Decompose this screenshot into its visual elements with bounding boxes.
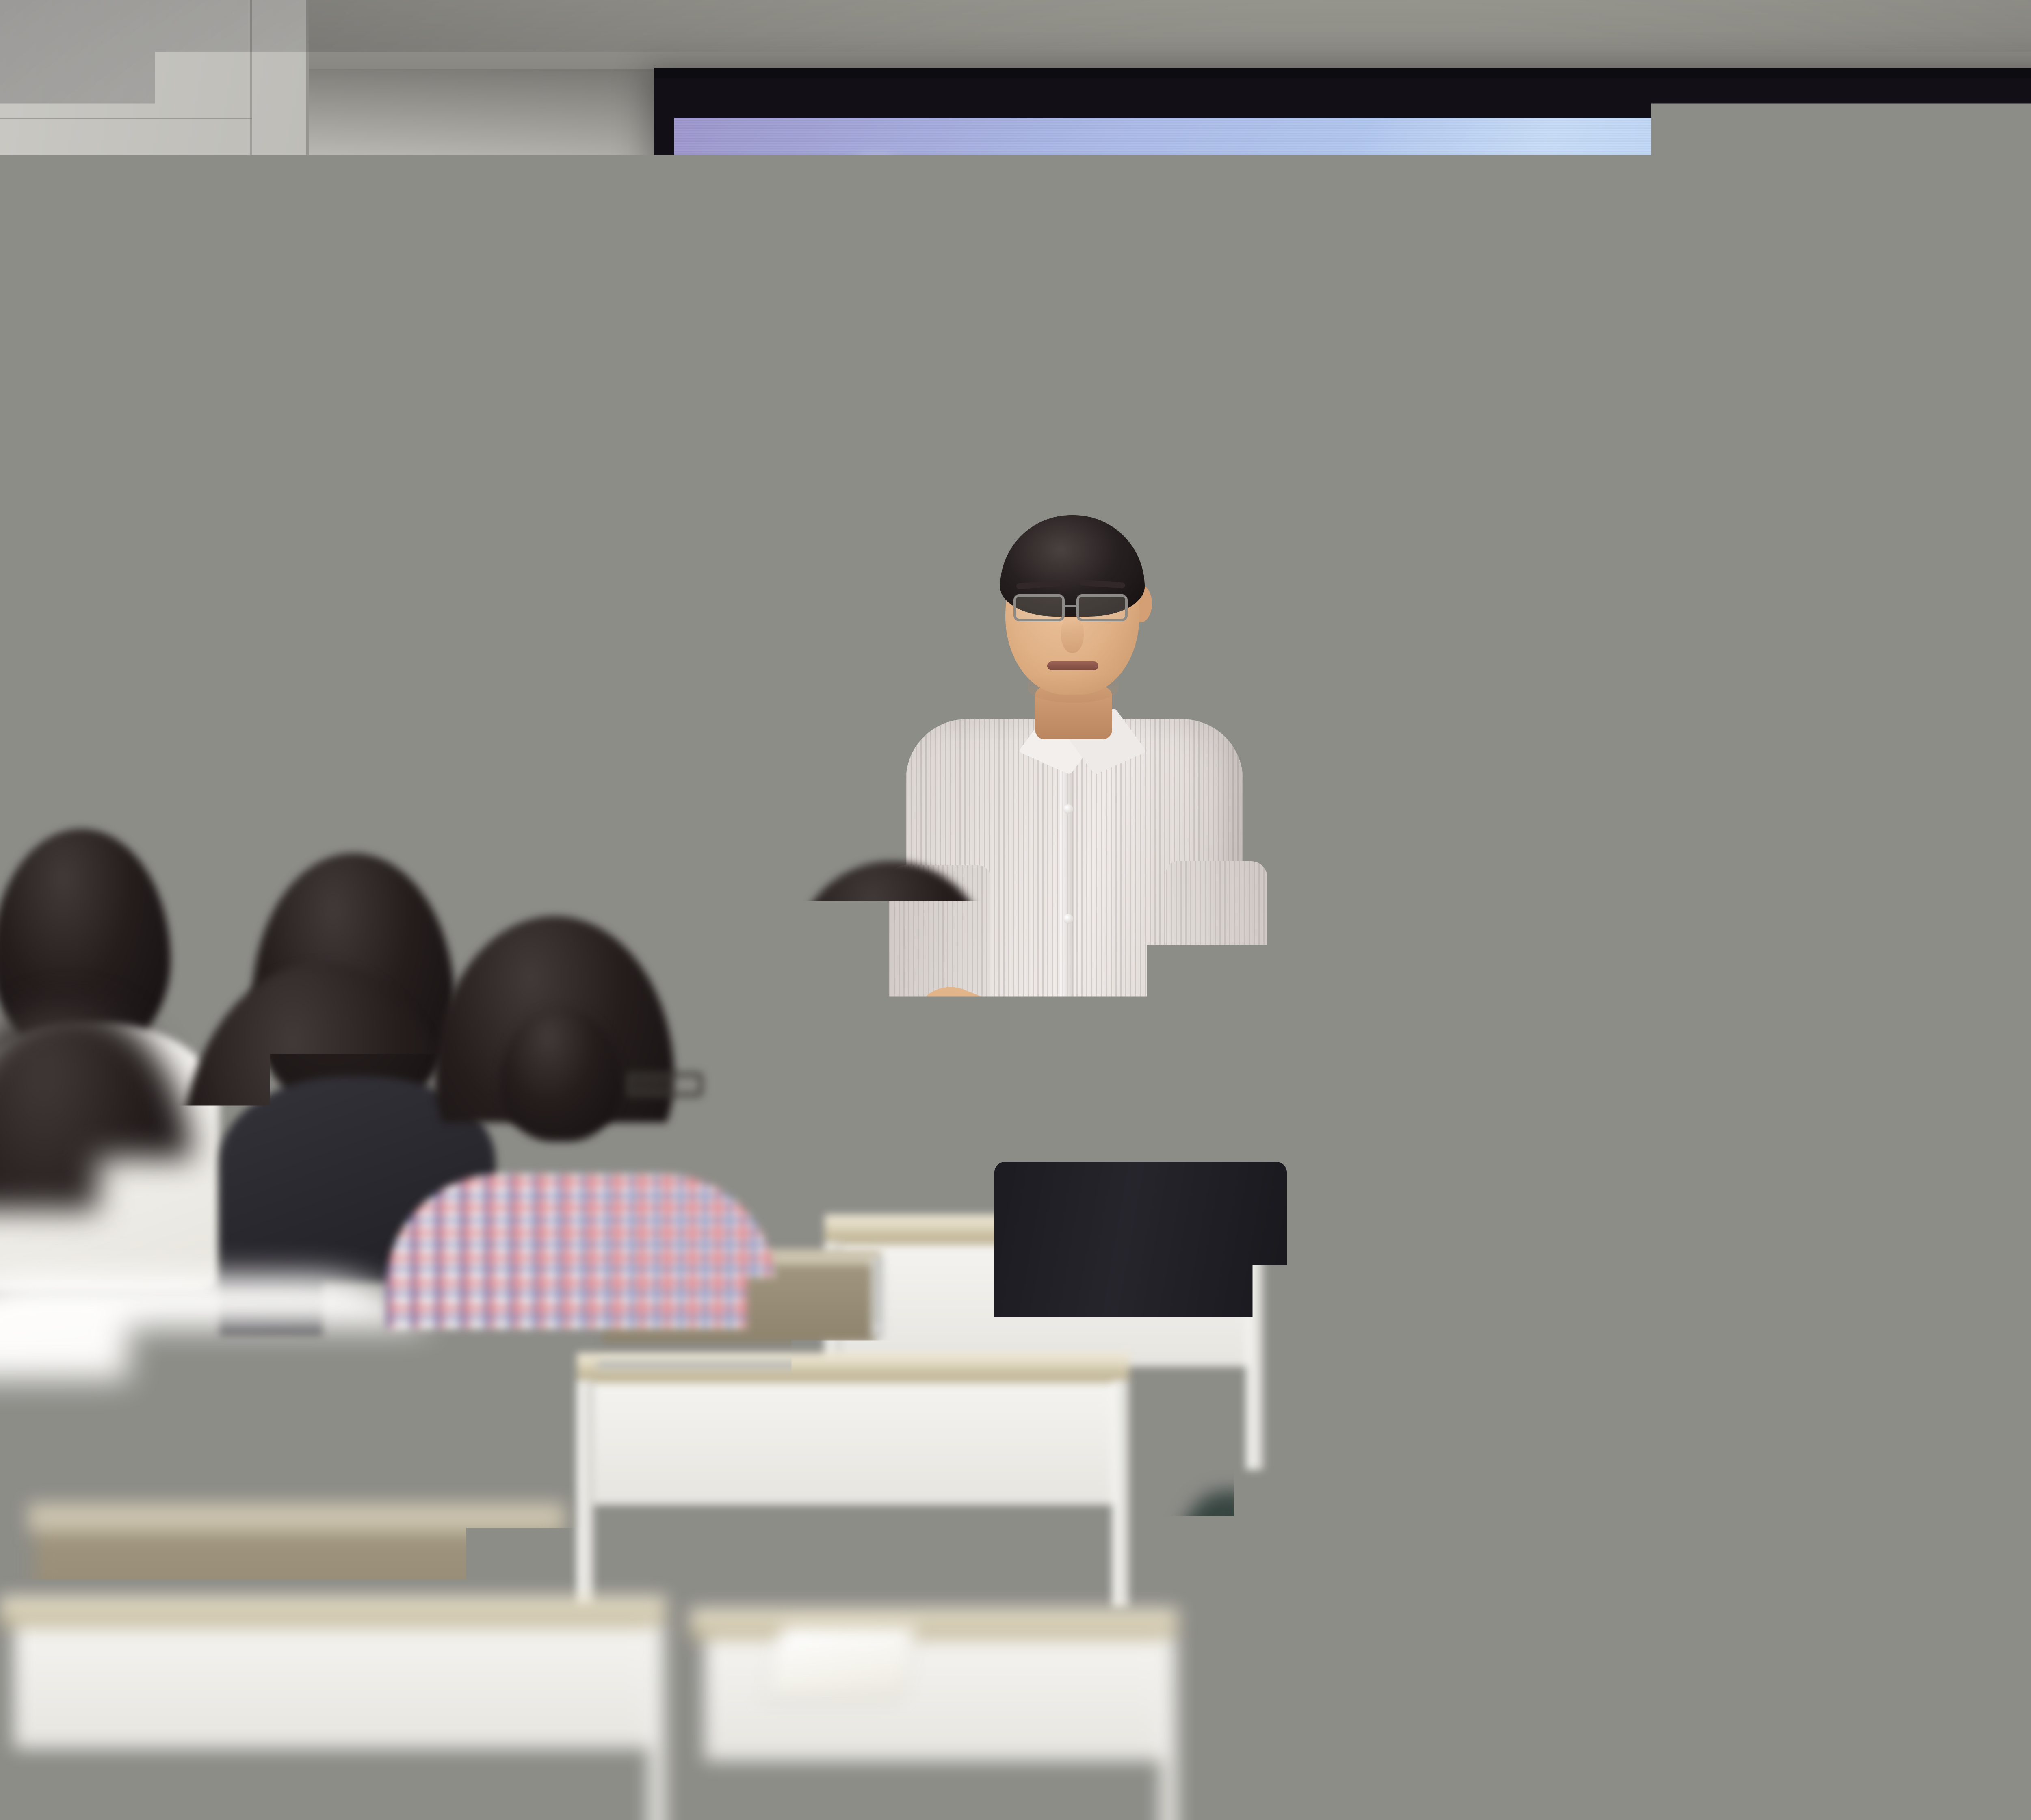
bag-under-desk bbox=[1170, 1491, 1304, 1743]
left-wall-seam bbox=[250, 0, 252, 1056]
glasses-lens-left bbox=[1013, 594, 1065, 621]
left-wall-seam-horizontal bbox=[0, 118, 252, 119]
university-name-cn: 河南工业大学 bbox=[955, 173, 1306, 225]
glasses-lens-right bbox=[1076, 594, 1128, 621]
university-crest-icon: 河南工业大学 1956 HENAN UNIVERSITY OF TECHNOLO… bbox=[821, 156, 930, 266]
torso-plaid-shirt bbox=[386, 1174, 776, 1540]
eyeglasses bbox=[626, 1072, 703, 1097]
desk-leg-right bbox=[649, 1624, 666, 1820]
torso-dark-top bbox=[1080, 991, 1308, 1186]
glasses-bridge bbox=[1064, 605, 1078, 607]
front-wall-seam-2 bbox=[1649, 1124, 1651, 1432]
slide-header: 河南工业大学 1956 HENAN UNIVERSITY OF TECHNOLO… bbox=[821, 156, 1306, 266]
speaker-shirt-button bbox=[1063, 804, 1073, 814]
university-name-en: Henan University of Technology bbox=[955, 229, 1306, 249]
pillar-shadow bbox=[309, 69, 674, 154]
university-name-block: 河南工业大学 Henan University of Technology bbox=[955, 173, 1306, 249]
photo-canvas: 河南工业大学 1956 HENAN UNIVERSITY OF TECHNOLO… bbox=[0, 0, 2031, 1820]
speaker-chin-shadow bbox=[1028, 674, 1119, 703]
slide-date: 2023年9月5日 bbox=[674, 735, 2031, 776]
crest-bottom-text: HENAN UNIVERSITY OF TECHNOLOGY bbox=[821, 243, 930, 260]
speaker-nose bbox=[1061, 617, 1084, 653]
slide-title: 新学期工作部署会议 bbox=[674, 386, 2031, 499]
slide-subtitle: 粮食和物资储备学院 bbox=[674, 650, 2031, 694]
speaker-mouth bbox=[1047, 661, 1098, 670]
